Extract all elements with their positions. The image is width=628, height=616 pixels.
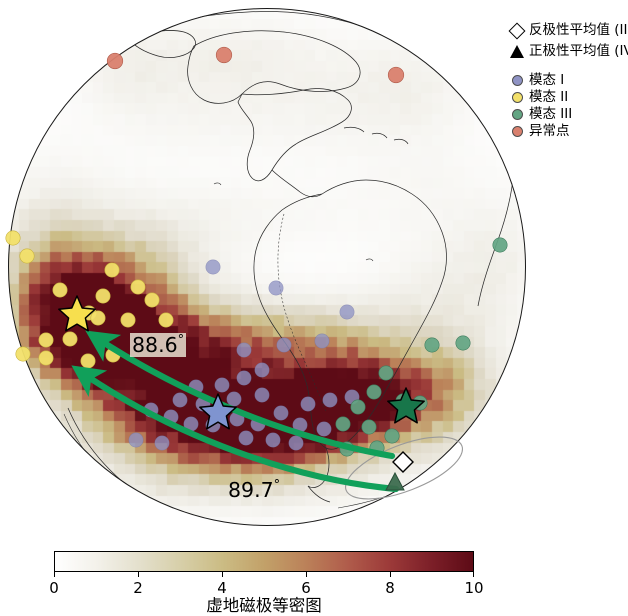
colorbar-gradient xyxy=(54,551,474,572)
colorbar-tick xyxy=(306,572,307,577)
legend-label-anomaly: 异常点 xyxy=(529,125,570,139)
colorbar-tick xyxy=(390,572,391,577)
legend-item-anomaly: 异常点 xyxy=(505,123,628,140)
colorbar-tick xyxy=(473,572,474,577)
figure-canvas: 88.6° 89.7° 反极性平均值 (II) 正极性平均值 (IV) 模态 I xyxy=(0,0,628,613)
colorbar-tick xyxy=(54,572,55,577)
legend-label-mode-1: 模态 I xyxy=(529,74,564,88)
circle-icon-mode-3 xyxy=(505,109,529,120)
angle-label-lower: 89.7° xyxy=(228,478,280,502)
legend-item-normal-mean: 正极性平均值 (IV) xyxy=(505,41,628,62)
coastlines xyxy=(8,8,526,526)
legend-item-mode-2: 模态 II xyxy=(505,89,628,106)
filled-triangle-icon xyxy=(505,45,529,58)
legend-label-reverse-mean: 反极性平均值 (II) xyxy=(529,24,628,38)
degree-symbol-lower: ° xyxy=(274,478,281,493)
legend-label-normal-mean: 正极性平均值 (IV) xyxy=(529,45,628,59)
legend: 反极性平均值 (II) 正极性平均值 (IV) 模态 I 模态 II xyxy=(505,20,628,140)
colorbar-tick xyxy=(138,572,139,577)
colorbar-group: 0246810 xyxy=(54,551,474,598)
circle-icon-mode-2 xyxy=(505,92,529,103)
circle-icon-mode-1 xyxy=(505,75,529,86)
legend-item-reverse-mean: 反极性平均值 (II) xyxy=(505,20,628,41)
angle-lower-value: 89.7 xyxy=(228,478,274,502)
circle-icon-anomaly xyxy=(505,126,529,137)
open-diamond-icon xyxy=(505,25,529,37)
globe-panel xyxy=(8,8,526,526)
legend-label-mode-2: 模态 II xyxy=(529,91,568,105)
legend-item-mode-1: 模态 I xyxy=(505,72,628,89)
legend-label-mode-3: 模态 III xyxy=(529,108,572,122)
colorbar-title: 虚地磁极等密图 xyxy=(54,592,474,616)
colorbar-tick xyxy=(222,572,223,577)
angle-upper-value: 88.6 xyxy=(132,333,178,357)
globe-clip xyxy=(8,8,526,526)
legend-item-mode-3: 模态 III xyxy=(505,106,628,123)
degree-symbol-upper: ° xyxy=(178,333,185,348)
angle-label-upper: 88.6° xyxy=(130,333,186,357)
legend-divider-gap xyxy=(505,62,628,72)
